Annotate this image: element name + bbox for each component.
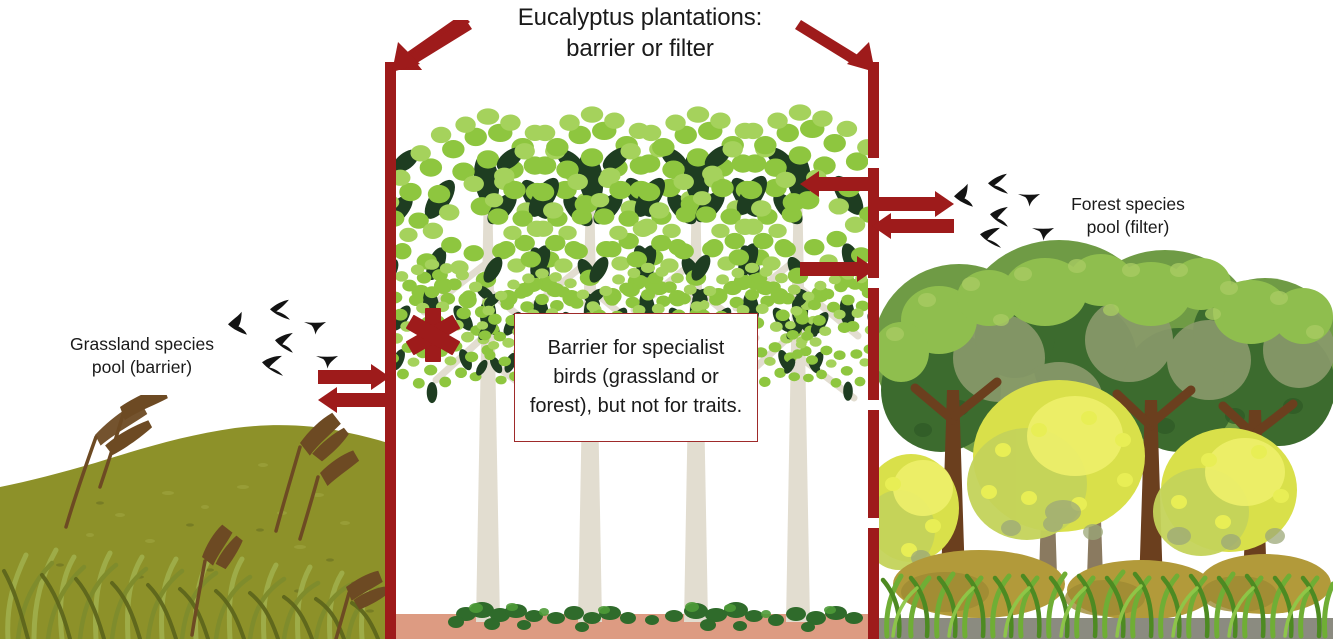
filter-bar-segment-1	[868, 62, 879, 158]
grassland-bird-flock	[218, 296, 348, 382]
title-line-1: Eucalyptus plantations:	[518, 4, 763, 31]
diagram-canvas: Eucalyptus plantations: barrier or filte…	[0, 0, 1333, 639]
native-forest-scene	[879, 240, 1333, 639]
barrier-callout-text: Barrier for specialist birds (grassland …	[515, 334, 757, 421]
barrier-bar-left-solid	[385, 62, 396, 639]
title-arrow-right-icon	[795, 20, 875, 72]
grassland-label: Grassland species pool (barrier)	[42, 333, 242, 379]
grassland-label-line-1: Grassland species	[70, 334, 214, 354]
grassland-scene	[0, 395, 385, 639]
forest-bird-flock	[952, 168, 1062, 258]
forest-label: Forest species pool (filter)	[1048, 193, 1208, 239]
arrow-plantation-into-forest-lower	[800, 256, 876, 282]
title-arrow-left-icon	[392, 20, 472, 72]
forest-label-line-1: Forest species	[1071, 194, 1185, 214]
arrow-forest-into-plantation-upper	[800, 171, 876, 197]
arrow-plantation-to-grassland	[318, 387, 390, 413]
arrow-forest-into-plantation-outer	[872, 213, 954, 239]
grassland-label-line-2: pool (barrier)	[92, 357, 192, 377]
title-line-2: barrier or filter	[430, 33, 850, 64]
barrier-callout-box: Barrier for specialist birds (grassland …	[514, 313, 758, 442]
forest-label-line-2: pool (filter)	[1087, 217, 1170, 237]
blocked-asterisk-icon	[404, 306, 462, 364]
filter-bar-segment-3	[868, 288, 879, 400]
filter-bar-segment-4	[868, 410, 879, 518]
diagram-title: Eucalyptus plantations: barrier or filte…	[430, 2, 850, 64]
filter-bar-segment-5	[868, 528, 879, 639]
